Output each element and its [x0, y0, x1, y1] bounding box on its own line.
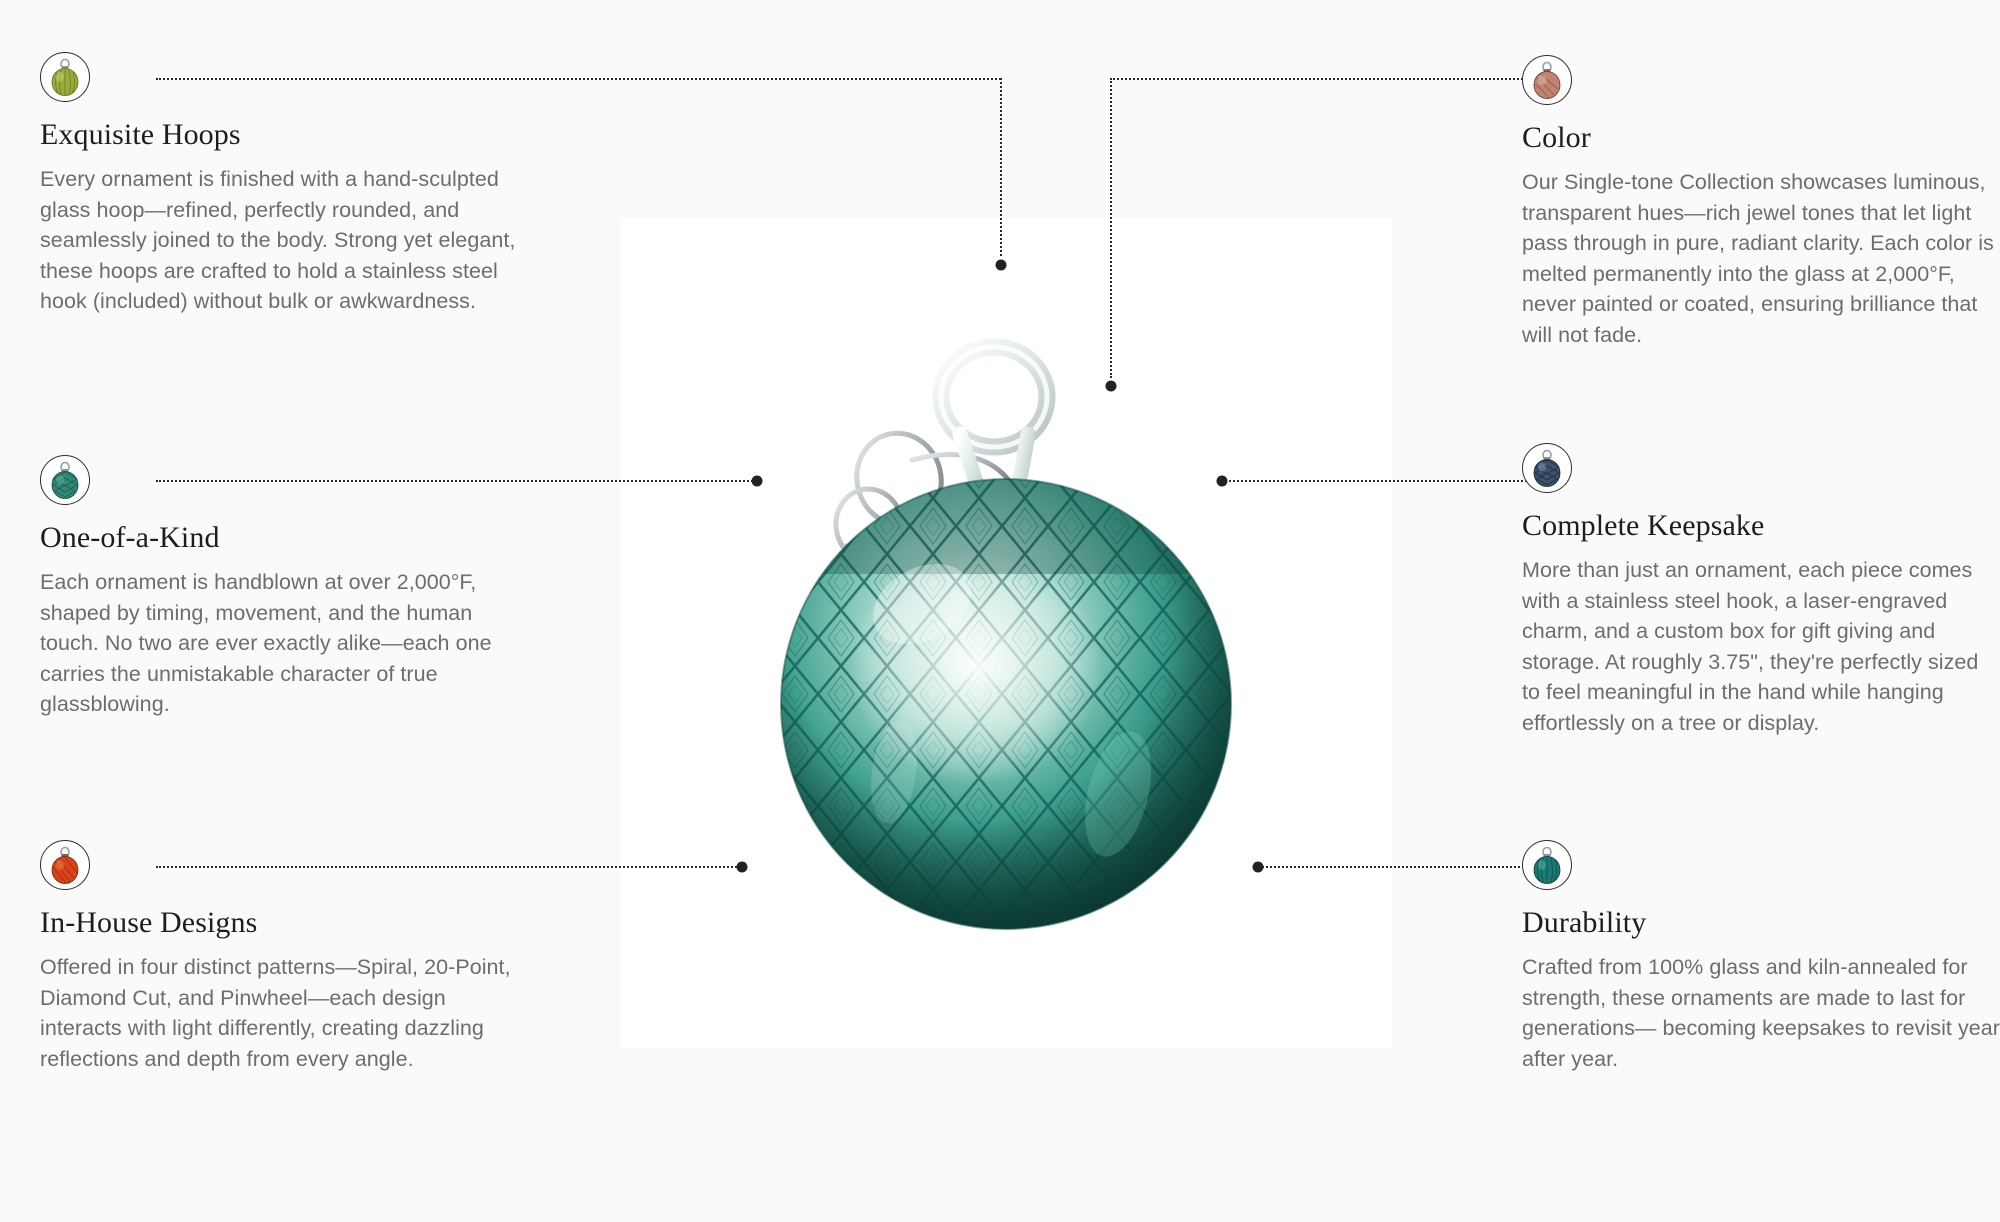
- feature-body: Crafted from 100% glass and kiln-anneale…: [1522, 952, 2000, 1074]
- ornament-icon-sea-green: [40, 455, 90, 505]
- feature-title: One-of-a-Kind: [40, 521, 520, 555]
- feature-one-of-a-kind: One-of-a-Kind Each ornament is handblown…: [40, 455, 520, 720]
- feature-body: More than just an ornament, each piece c…: [1522, 555, 2000, 738]
- ornament-icon-navy: [1522, 443, 1572, 493]
- feature-title: Exquisite Hoops: [40, 118, 520, 152]
- ornament-icon-teal: [1522, 840, 1572, 890]
- feature-title: Complete Keepsake: [1522, 509, 2000, 543]
- ornament-icon-olive: [40, 52, 90, 102]
- ornament-icon-copper: [1522, 55, 1572, 105]
- ornament-illustration: [726, 274, 1286, 974]
- feature-title: In-House Designs: [40, 906, 520, 940]
- product-image-card: [620, 218, 1392, 1048]
- product-image: [620, 218, 1392, 1048]
- feature-durability: Durability Crafted from 100% glass and k…: [1522, 840, 2000, 1074]
- feature-complete-keepsake: Complete Keepsake More than just an orna…: [1522, 443, 2000, 738]
- ornament-icon-orange: [40, 840, 90, 890]
- feature-body: Each ornament is handblown at over 2,000…: [40, 567, 520, 720]
- feature-exquisite-hoops: Exquisite Hoops Every ornament is finish…: [40, 52, 520, 317]
- feature-in-house-designs: In-House Designs Offered in four distinc…: [40, 840, 520, 1074]
- feature-body: Our Single-tone Collection showcases lum…: [1522, 167, 2000, 350]
- feature-body: Offered in four distinct patterns—Spiral…: [40, 952, 520, 1074]
- infographic-canvas: Exquisite Hoops Every ornament is finish…: [0, 0, 2000, 1222]
- ornament-graphic: [726, 274, 1286, 974]
- feature-color: Color Our Single-tone Collection showcas…: [1522, 55, 2000, 350]
- feature-title: Color: [1522, 121, 2000, 155]
- feature-title: Durability: [1522, 906, 2000, 940]
- feature-body: Every ornament is finished with a hand-s…: [40, 164, 520, 317]
